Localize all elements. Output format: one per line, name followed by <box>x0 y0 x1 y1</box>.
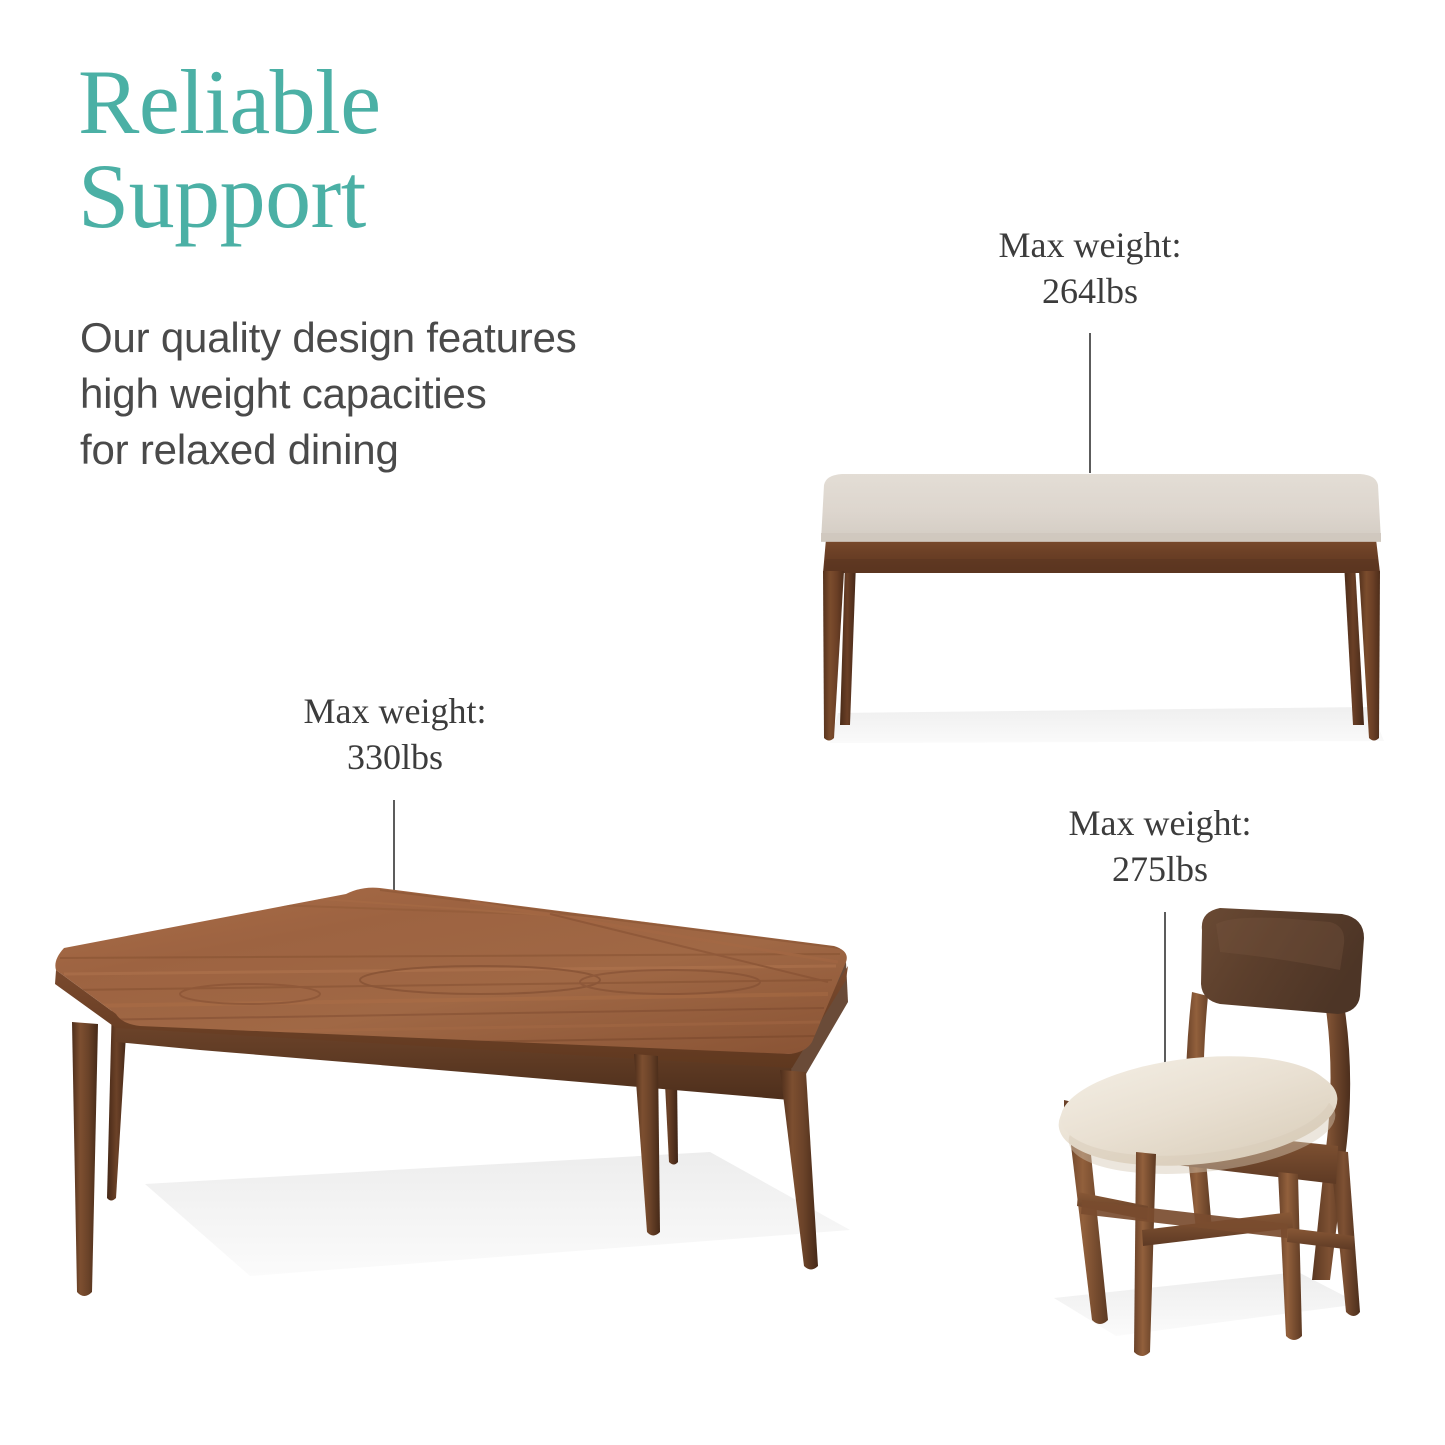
table-leg-front-right <box>780 1070 818 1270</box>
callout-table-value: 330lbs <box>165 734 625 780</box>
page-title-line-2: Support <box>78 150 698 244</box>
bench-seat-edge <box>821 533 1381 542</box>
product-image-dining-chair <box>1030 900 1410 1370</box>
callout-table-label: Max weight: <box>165 688 625 734</box>
page-title: Reliable Support <box>78 56 698 244</box>
subtitle-line-3: for relaxed dining <box>80 422 720 478</box>
table-leg-front-left <box>72 1022 98 1296</box>
infographic-canvas: Reliable Support Our quality design feat… <box>0 0 1445 1445</box>
callout-table: Max weight: 330lbs <box>165 688 625 780</box>
callout-chair-value: 275lbs <box>930 846 1390 892</box>
product-image-bench <box>790 455 1410 755</box>
leader-line-bench <box>1089 333 1091 473</box>
page-title-line-1: Reliable <box>78 51 381 153</box>
chair-leg-front-right <box>1278 1172 1302 1340</box>
subtitle-line-2: high weight capacities <box>80 366 720 422</box>
callout-bench: Max weight: 264lbs <box>860 222 1320 314</box>
callout-bench-label: Max weight: <box>860 222 1320 268</box>
bench-apron-shade <box>823 559 1380 573</box>
callout-chair-label: Max weight: <box>930 800 1390 846</box>
callout-chair: Max weight: 275lbs <box>930 800 1390 892</box>
bench-seat <box>821 474 1381 541</box>
product-image-dining-table <box>50 862 880 1322</box>
table-floor-shadow <box>145 1152 850 1276</box>
subtitle-line-1: Our quality design features <box>80 310 720 366</box>
bench-floor-shadow <box>830 707 1384 743</box>
callout-bench-value: 264lbs <box>860 268 1320 314</box>
subtitle-paragraph: Our quality design features high weight … <box>80 310 720 478</box>
